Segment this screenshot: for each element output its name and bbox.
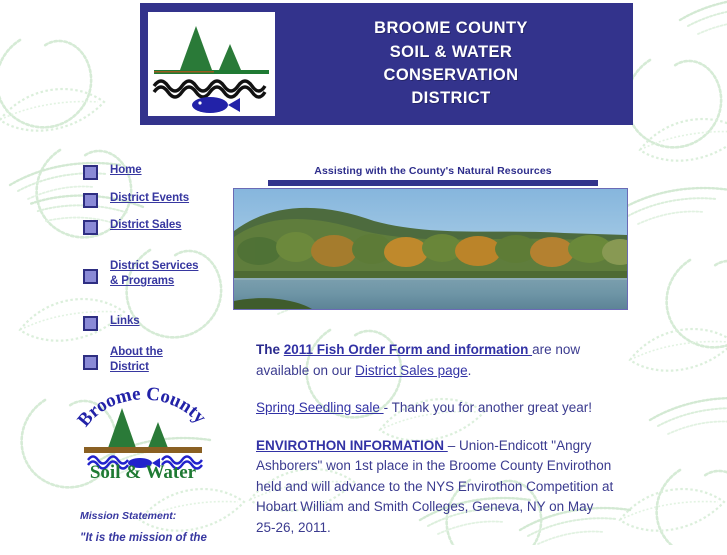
logo-arc-text: Broome County [73, 386, 210, 431]
tagline: Assisting with the County's Natural Reso… [268, 165, 598, 177]
sidebar-item-label: Links [110, 314, 140, 329]
sidebar-item-district-sales[interactable]: District Sales [0, 218, 232, 235]
sidebar-item-district-services-programs[interactable]: District Services & Programs [0, 259, 232, 290]
paragraph2-tail: - Thank you for another great year! [384, 400, 592, 415]
link-envirothon-information[interactable]: ENVIROTHON INFORMATION [256, 438, 448, 453]
mission-statement-block: Mission Statement: "It is the mission of… [80, 510, 260, 544]
bullet-square-icon [83, 269, 98, 284]
hero-photo [233, 188, 628, 310]
sidebar-navigation: Home District Events District Sales Dist… [0, 150, 232, 375]
bullet-square-icon [83, 165, 98, 180]
header-emblem [148, 12, 275, 116]
sidebar-item-district-events[interactable]: District Events [0, 191, 232, 208]
site-title-line-1: BROOME COUNTY [275, 17, 627, 40]
site-title-line-2: SOIL & WATER [275, 41, 627, 64]
site-header-banner: BROOME COUNTY SOIL & WATER CONSERVATION … [140, 3, 633, 125]
bullet-square-icon [83, 193, 98, 208]
sidebar-item-label: District Sales [110, 218, 181, 233]
paragraph-envirothon: ENVIROTHON INFORMATION – Union-Endicott … [256, 436, 616, 539]
sidebar-item-label: District Services & Programs [110, 259, 198, 290]
mission-text: "It is the mission of the [80, 532, 260, 544]
link-district-sales-page[interactable]: District Sales page [355, 363, 468, 378]
paragraph1-tail: . [468, 363, 472, 378]
paragraph-fish-order: The 2011 Fish Order Form and information… [256, 340, 616, 381]
logo-bottom-text: Soil & Water [90, 462, 197, 478]
bullet-square-icon [83, 316, 98, 331]
link-spring-seedling-sale[interactable]: Spring Seedling sale [256, 400, 384, 415]
sidebar-item-links[interactable]: Links [0, 314, 232, 331]
site-title-line-3: CONSERVATION [275, 64, 627, 87]
sidebar-item-about-the-district[interactable]: About the District [0, 345, 232, 376]
bullet-square-icon [83, 355, 98, 370]
paragraph1-lead: The [256, 342, 284, 357]
district-logo: Broome County Soil & Water [72, 386, 214, 478]
site-title: BROOME COUNTY SOIL & WATER CONSERVATION … [275, 17, 633, 111]
main-content: The 2011 Fish Order Form and information… [256, 340, 616, 555]
sidebar-item-label: Home [110, 163, 142, 178]
paragraph-spring-seedling: Spring Seedling sale - Thank you for ano… [256, 398, 616, 419]
sidebar-item-home[interactable]: Home [0, 163, 232, 180]
sidebar-item-label: District Events [110, 191, 189, 206]
mission-heading: Mission Statement: [80, 510, 260, 522]
site-title-line-4: DISTRICT [275, 87, 627, 110]
sidebar-item-label: About the District [110, 345, 163, 376]
svg-text:Broome County: Broome County [73, 386, 210, 431]
tagline-divider-bar [268, 180, 598, 186]
link-fish-order-form[interactable]: 2011 Fish Order Form and information [284, 342, 532, 357]
page-root: BROOME COUNTY SOIL & WATER CONSERVATION … [0, 0, 727, 545]
bullet-square-icon [83, 220, 98, 235]
